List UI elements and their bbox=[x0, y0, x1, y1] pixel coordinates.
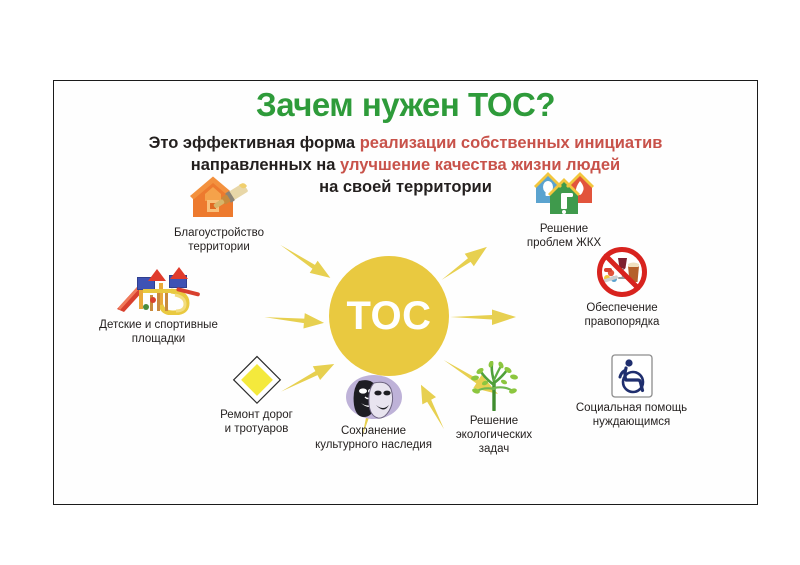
theatre-masks-icon bbox=[343, 373, 405, 421]
utility-houses-icon bbox=[533, 167, 595, 219]
node-improvement-icon-wrap bbox=[144, 171, 294, 223]
house-with-paintbrush-icon bbox=[187, 173, 251, 223]
node-social-caption: Социальная помощь нуждающимся bbox=[544, 401, 719, 429]
poster-canvas: Зачем нужен ТОС? Это эффективная форма р… bbox=[54, 81, 757, 504]
node-heritage-caption: Сохранение культурного наследия bbox=[296, 424, 451, 452]
node-playgrounds: Детские и спортивные площадки bbox=[76, 263, 241, 346]
node-heritage-icon-wrap bbox=[296, 369, 451, 421]
arrow-to-order bbox=[448, 307, 510, 327]
node-improvement-caption: Благоустройство территории bbox=[144, 226, 294, 254]
wheelchair-accessibility-icon bbox=[611, 354, 653, 398]
subtitle-line-1-highlight: реализации собственных инициатив bbox=[360, 134, 663, 152]
subtitle-line-1-plain: Это эффективная форма bbox=[149, 134, 360, 152]
node-playgrounds-icon-wrap bbox=[76, 263, 241, 315]
node-heritage: Сохранение культурного наследия bbox=[296, 369, 451, 452]
arrow-to-playgrounds bbox=[263, 308, 327, 333]
poster-frame: Зачем нужен ТОС? Это эффективная форма р… bbox=[53, 80, 758, 505]
priority-road-sign-icon bbox=[232, 355, 282, 405]
playground-equipment-icon bbox=[113, 265, 205, 315]
arrow-to-utilities bbox=[434, 236, 496, 289]
node-utilities-icon-wrap bbox=[494, 167, 634, 219]
node-social: Социальная помощь нуждающимся bbox=[544, 346, 719, 429]
node-order-caption: Обеспечение правопорядка bbox=[542, 301, 702, 329]
node-order-icon-wrap bbox=[542, 246, 702, 298]
node-ecology-caption: Решение экологических задач bbox=[429, 414, 559, 456]
node-order: Обеспечение правопорядка bbox=[542, 246, 702, 329]
node-improvement: Благоустройство территории bbox=[144, 171, 294, 254]
node-social-icon-wrap bbox=[544, 346, 719, 398]
center-hub: ТОС bbox=[329, 256, 449, 376]
no-alcohol-prohibition-icon bbox=[594, 246, 650, 298]
center-hub-label: ТОС bbox=[347, 296, 432, 336]
green-tree-icon bbox=[467, 361, 521, 411]
page-title: Зачем нужен ТОС? bbox=[54, 86, 757, 124]
node-playgrounds-caption: Детские и спортивные площадки bbox=[76, 318, 241, 346]
node-ecology: Решение экологических задач bbox=[429, 359, 559, 456]
subtitle-line-1: Это эффективная форма реализации собстве… bbox=[54, 133, 757, 155]
node-ecology-icon-wrap bbox=[429, 359, 559, 411]
node-utilities: Решение проблем ЖКХ bbox=[494, 167, 634, 250]
